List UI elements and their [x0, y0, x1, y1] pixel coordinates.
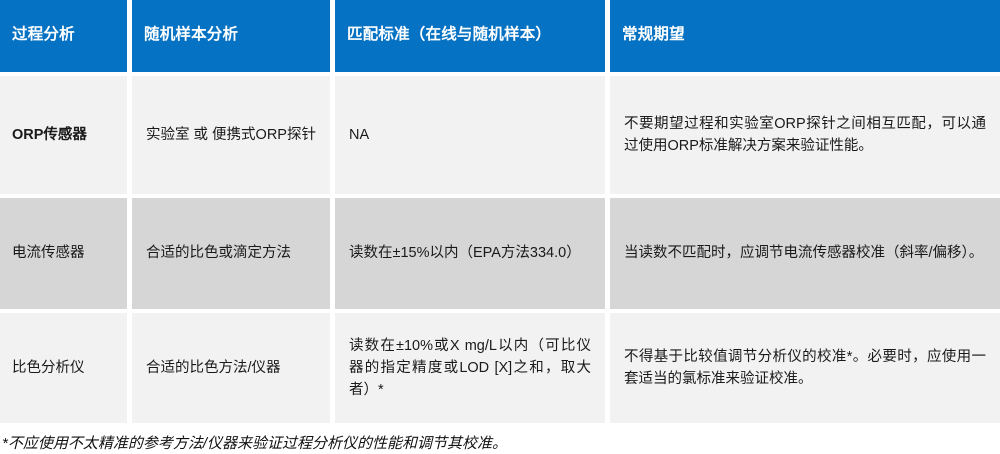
comparison-table-sheet: 过程分析 随机样本分析 匹配标准（在线与随机样本） 常规期望 ORP传感器 实验… — [0, 0, 1000, 415]
cell-expectation-colorimetric-analyzer: 不得基于比较值调节分析仪的校准*。必要时，应使用一套适当的氯标准来验证校准。 — [610, 313, 1000, 427]
table-row: 比色分析仪 合适的比色方法/仪器 读数在±10%或X mg/L以内（可比仪器的指… — [0, 313, 1000, 427]
table-body: ORP传感器 实验室 或 便携式ORP探针 NA 不要期望过程和实验室ORP探针… — [0, 76, 1000, 427]
table-header: 过程分析 随机样本分析 匹配标准（在线与随机样本） 常规期望 — [0, 0, 1000, 76]
cell-grab-sample-colorimetric-analyzer: 合适的比色方法/仪器 — [132, 313, 335, 427]
column-header-match-criteria: 匹配标准（在线与随机样本） — [335, 0, 610, 76]
table-row: 电流传感器 合适的比色或滴定方法 读数在±15%以内（EPA方法334.0） 当… — [0, 198, 1000, 313]
cell-process-orp-sensor: ORP传感器 — [0, 76, 132, 198]
table-footnote: *不应使用不太精准的参考方法/仪器来验证过程分析仪的性能和调节其校准。 — [0, 427, 1000, 454]
cell-process-amperometric-sensor: 电流传感器 — [0, 198, 132, 313]
process-analysis-table: 过程分析 随机样本分析 匹配标准（在线与随机样本） 常规期望 ORP传感器 实验… — [0, 0, 1000, 427]
cell-expectation-orp-sensor: 不要期望过程和实验室ORP探针之间相互匹配，可以通过使用ORP标准解决方案来验证… — [610, 76, 1000, 198]
column-header-process-analysis: 过程分析 — [0, 0, 132, 76]
table-header-row: 过程分析 随机样本分析 匹配标准（在线与随机样本） 常规期望 — [0, 0, 1000, 76]
cell-grab-sample-amperometric-sensor: 合适的比色或滴定方法 — [132, 198, 335, 313]
table-row: ORP传感器 实验室 或 便携式ORP探针 NA 不要期望过程和实验室ORP探针… — [0, 76, 1000, 198]
column-header-grab-sample-analysis: 随机样本分析 — [132, 0, 335, 76]
cell-process-colorimetric-analyzer: 比色分析仪 — [0, 313, 132, 427]
cell-match-criteria-amperometric-sensor: 读数在±15%以内（EPA方法334.0） — [335, 198, 610, 313]
cell-grab-sample-orp-sensor: 实验室 或 便携式ORP探针 — [132, 76, 335, 198]
column-header-general-expectation: 常规期望 — [610, 0, 1000, 76]
cell-match-criteria-colorimetric-analyzer: 读数在±10%或X mg/L以内（可比仪器的指定精度或LOD [X]之和，取大者… — [335, 313, 610, 427]
cell-match-criteria-orp-sensor: NA — [335, 76, 610, 198]
cell-expectation-amperometric-sensor: 当读数不匹配时，应调节电流传感器校准（斜率/偏移）。 — [610, 198, 1000, 313]
